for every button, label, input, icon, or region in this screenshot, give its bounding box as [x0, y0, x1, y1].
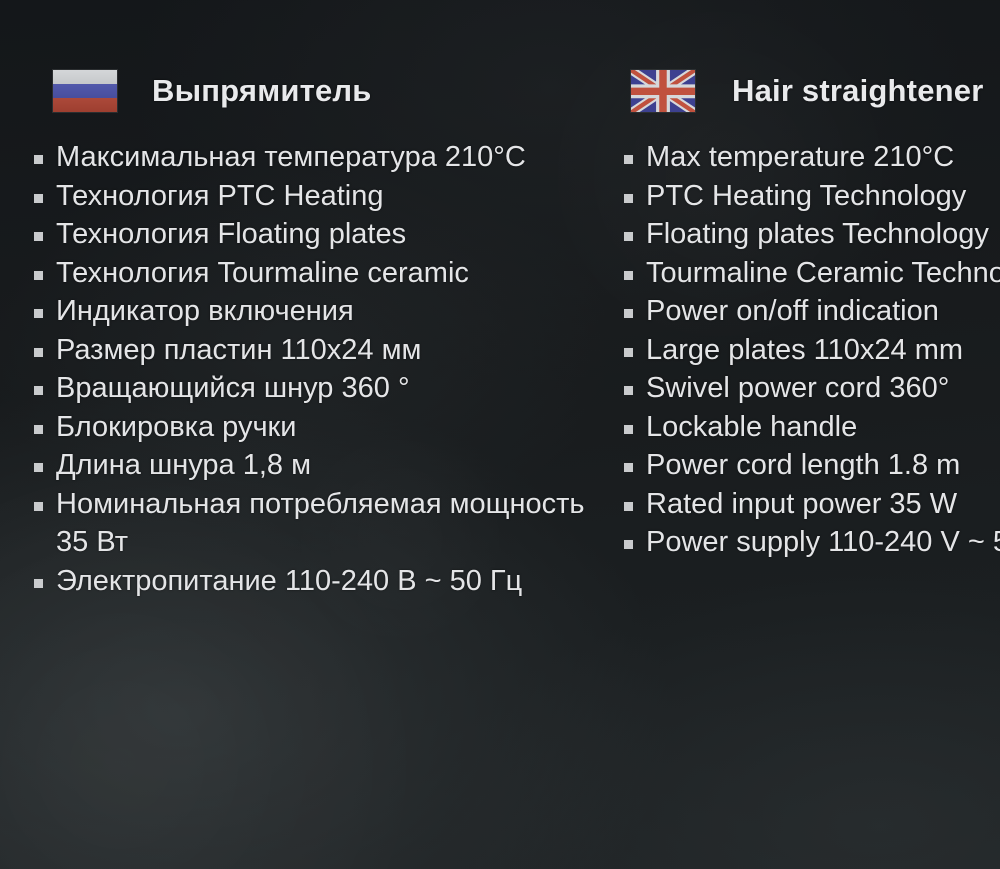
spec-list-item: Power on/off indication [620, 292, 1000, 331]
spec-list-item-label: Power cord length 1.8 m [646, 449, 960, 481]
column-heading-russian: Выпрямитель [52, 62, 590, 120]
spec-list-item-label: Floating plates Technology [646, 218, 989, 250]
spec-list-item: Max temperature 210°C [620, 138, 1000, 177]
spec-list-item-label: Power supply 110-240 V ~ 50 Hz [646, 526, 1000, 558]
bullet-square-icon [624, 540, 633, 549]
product-spec-panel: Выпрямитель Максимальная температура 210… [0, 0, 1000, 869]
spec-list-item: Номинальная потребляемая мощность 35 Вт [30, 485, 590, 562]
bullet-square-icon [624, 425, 633, 434]
spec-list-item-label: Lockable handle [646, 411, 857, 443]
bullet-square-icon [34, 463, 43, 472]
spec-list-item: Максимальная температура 210°C [30, 138, 590, 177]
bullet-square-icon [34, 232, 43, 241]
bullet-square-icon [34, 271, 43, 280]
spec-column-russian: Выпрямитель Максимальная температура 210… [30, 0, 590, 600]
spec-list-item: Tourmaline Ceramic Technology [620, 254, 1000, 293]
bullet-square-icon [34, 348, 43, 357]
spec-list-item: Power supply 110-240 V ~ 50 Hz [620, 523, 1000, 562]
spec-list-item-label: Power on/off indication [646, 295, 939, 327]
spec-list-item-label: PTC Heating Technology [646, 180, 966, 212]
spec-list-item-label: Max temperature 210°C [646, 141, 954, 173]
spec-list-item-label: Вращающийся шнур 360 ° [56, 372, 410, 404]
bullet-square-icon [34, 386, 43, 395]
spec-list-item-label: Длина шнура 1,8 м [56, 449, 311, 481]
spec-list-item-label: Large plates 110x24 mm [646, 334, 963, 366]
spec-list-item: Swivel power cord 360° [620, 369, 1000, 408]
spec-list-item: Электропитание 110-240 В ~ 50 Гц [30, 562, 590, 601]
spec-list-item: Индикатор включения [30, 292, 590, 331]
flag-united-kingdom-icon [630, 69, 696, 113]
spec-list-item-label: Rated input power 35 W [646, 488, 957, 520]
spec-list-item-label: Технология Floating plates [56, 218, 406, 250]
page-title-english: Hair straightener [732, 73, 983, 109]
bullet-square-icon [624, 155, 633, 164]
bullet-square-icon [34, 309, 43, 318]
spec-column-english: Hair straightener Max temperature 210°CP… [620, 0, 1000, 562]
spec-list-item-label: Блокировка ручки [56, 411, 296, 443]
spec-list-english: Max temperature 210°CPTC Heating Technol… [620, 138, 1000, 562]
bullet-square-icon [34, 502, 43, 511]
bullet-square-icon [34, 579, 43, 588]
spec-list-item: Power cord length 1.8 m [620, 446, 1000, 485]
bullet-square-icon [624, 463, 633, 472]
spec-list-item-label: Индикатор включения [56, 295, 354, 327]
page-title-russian: Выпрямитель [152, 73, 372, 109]
spec-list-russian: Максимальная температура 210°CТехнология… [30, 138, 590, 600]
bullet-square-icon [624, 232, 633, 241]
spec-list-item: Технология Tourmaline ceramic [30, 254, 590, 293]
bullet-square-icon [624, 386, 633, 395]
bullet-square-icon [34, 155, 43, 164]
spec-list-item: Технология PTC Heating [30, 177, 590, 216]
flag-russia-icon [52, 69, 118, 113]
bullet-square-icon [624, 194, 633, 203]
bullet-square-icon [624, 348, 633, 357]
spec-list-item: Технология Floating plates [30, 215, 590, 254]
column-heading-english: Hair straightener [630, 62, 1000, 120]
spec-list-item-label: Технология Tourmaline ceramic [56, 257, 469, 289]
spec-list-item-label: Tourmaline Ceramic Technology [646, 257, 1000, 289]
bullet-square-icon [624, 309, 633, 318]
spec-list-item-label: Размер пластин 110x24 мм [56, 334, 421, 366]
bullet-square-icon [34, 194, 43, 203]
spec-list-item: Длина шнура 1,8 м [30, 446, 590, 485]
spec-list-item: Блокировка ручки [30, 408, 590, 447]
spec-list-item-label: Номинальная потребляемая мощность 35 Вт [56, 488, 593, 559]
bullet-square-icon [34, 425, 43, 434]
spec-list-item-label: Электропитание 110-240 В ~ 50 Гц [56, 565, 522, 597]
spec-list-item: Floating plates Technology [620, 215, 1000, 254]
spec-list-item-label: Swivel power cord 360° [646, 372, 949, 404]
spec-list-item: Lockable handle [620, 408, 1000, 447]
spec-list-item: Размер пластин 110x24 мм [30, 331, 590, 370]
spec-list-item: PTC Heating Technology [620, 177, 1000, 216]
spec-list-item-label: Технология PTC Heating [56, 180, 384, 212]
spec-list-item-label: Максимальная температура 210°C [56, 141, 526, 173]
bullet-square-icon [624, 502, 633, 511]
spec-list-item: Rated input power 35 W [620, 485, 1000, 524]
spec-list-item: Large plates 110x24 mm [620, 331, 1000, 370]
bullet-square-icon [624, 271, 633, 280]
spec-list-item: Вращающийся шнур 360 ° [30, 369, 590, 408]
